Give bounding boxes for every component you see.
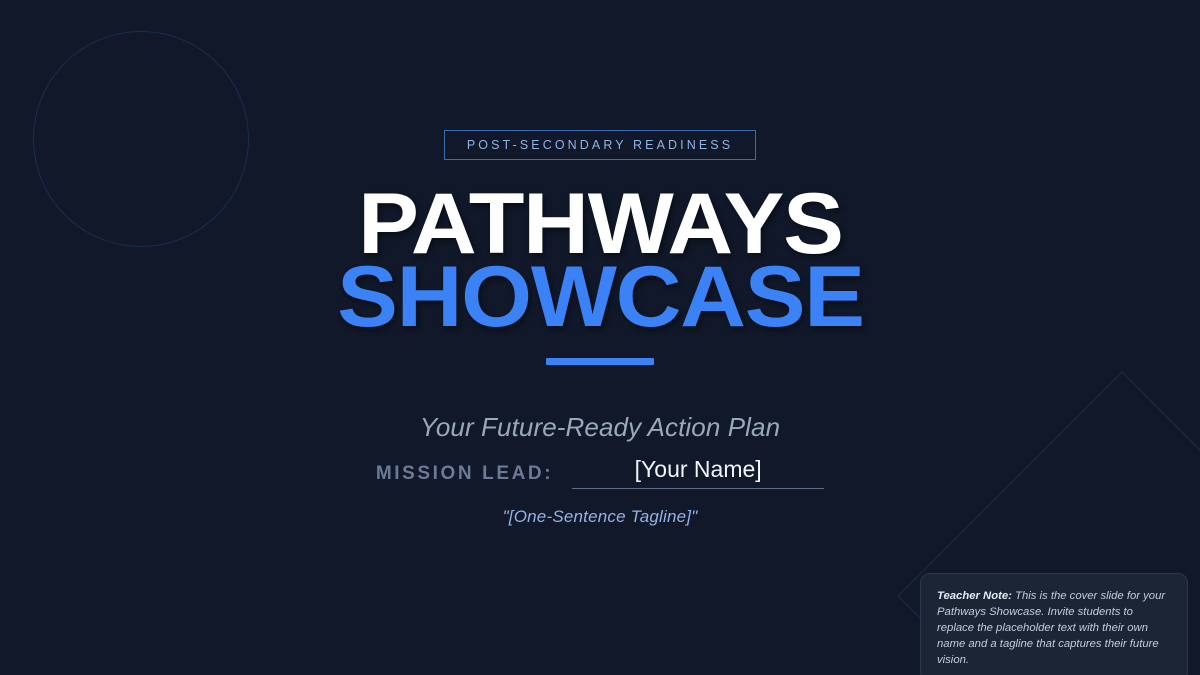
tagline[interactable]: "[One-Sentence Tagline]" [503, 507, 698, 527]
mission-lead-row: MISSION LEAD: [Your Name] [0, 456, 1200, 489]
title-line-secondary: SHOWCASE [337, 261, 864, 334]
page-title: PATHWAYS SHOWCASE [352, 188, 849, 333]
slide-canvas: POST-SECONDARY READINESS PATHWAYS SHOWCA… [0, 0, 1200, 675]
eyebrow-badge-label: POST-SECONDARY READINESS [467, 138, 733, 152]
mission-lead-value[interactable]: [Your Name] [635, 456, 762, 482]
teacher-note-label: Teacher Note: [937, 590, 1012, 602]
teacher-note-box: Teacher Note: This is the cover slide fo… [920, 573, 1188, 675]
mission-lead-label: MISSION LEAD: [376, 463, 553, 489]
accent-divider [546, 358, 654, 365]
mission-lead-field[interactable]: [Your Name] [572, 456, 824, 489]
subtitle: Your Future-Ready Action Plan [420, 412, 780, 443]
eyebrow-badge: POST-SECONDARY READINESS [444, 130, 756, 160]
